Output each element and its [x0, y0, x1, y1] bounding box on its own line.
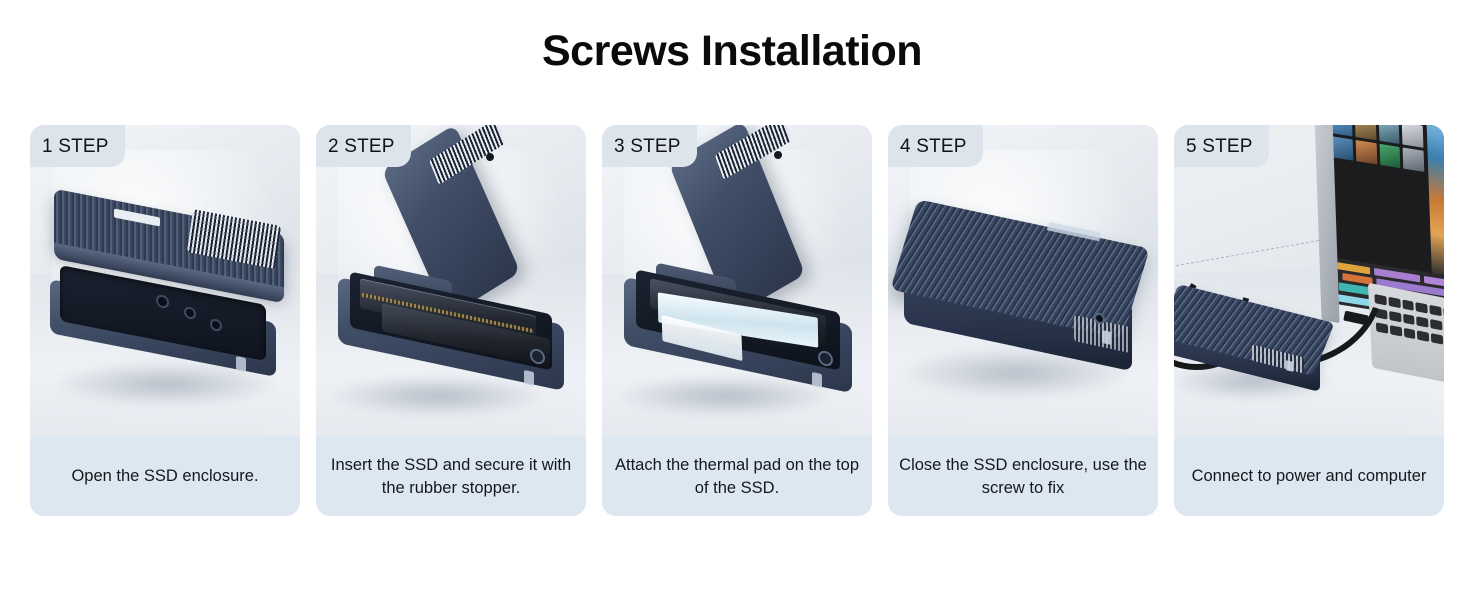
media-thumbnail — [1354, 125, 1375, 140]
step-card-2[interactable]: 2 STEP Insert the SSD and secure it with… — [316, 125, 586, 516]
brand-mark — [236, 356, 246, 372]
step-1-photo — [30, 125, 300, 437]
step-badge: 1 STEP — [30, 125, 125, 167]
installation-infographic: Screws Installation 1 STEP — [0, 0, 1464, 600]
steps-row: 1 STEP Open the SSD enclosure. — [30, 125, 1444, 516]
step-3-photo — [602, 125, 872, 437]
step-4-photo — [888, 125, 1158, 437]
media-thumbnail — [1331, 125, 1352, 136]
step-card-3[interactable]: 3 STEP Attach the thermal pad on the top… — [602, 125, 872, 516]
brand-mark — [1286, 360, 1293, 372]
step-caption: Attach the thermal pad on the top of the… — [602, 437, 872, 516]
step-card-4[interactable]: 4 STEP Close the SSD enclosure, use the … — [888, 125, 1158, 516]
media-thumbnail — [1403, 147, 1424, 172]
brand-mark — [524, 370, 534, 386]
brand-mark — [812, 372, 822, 388]
step-badge: 5 STEP — [1174, 125, 1269, 167]
step-caption: Insert the SSD and secure it with the ru… — [316, 437, 586, 516]
step-caption: Connect to power and computer — [1174, 437, 1444, 516]
media-thumbnail — [1378, 125, 1399, 144]
media-thumbnail — [1355, 139, 1376, 164]
media-thumbnail-grid — [1331, 125, 1425, 172]
step-badge: 2 STEP — [316, 125, 411, 167]
page-title: Screws Installation — [0, 24, 1464, 78]
step-caption: Close the SSD enclosure, use the screw t… — [888, 437, 1158, 516]
media-thumbnail — [1402, 125, 1423, 147]
step-badge: 4 STEP — [888, 125, 983, 167]
step-card-5[interactable]: 5 STEP Connect to power and computer — [1174, 125, 1444, 516]
step-2-photo — [316, 125, 586, 437]
drop-shadow — [328, 375, 548, 417]
media-thumbnail — [1332, 136, 1353, 161]
step-card-1[interactable]: 1 STEP Open the SSD enclosure. — [30, 125, 300, 516]
media-thumbnail — [1379, 143, 1400, 168]
step-caption: Open the SSD enclosure. — [30, 437, 300, 516]
preview-pane — [1427, 125, 1444, 280]
brand-mark — [1102, 330, 1111, 345]
step-5-photo — [1174, 125, 1444, 437]
step-badge: 3 STEP — [602, 125, 697, 167]
